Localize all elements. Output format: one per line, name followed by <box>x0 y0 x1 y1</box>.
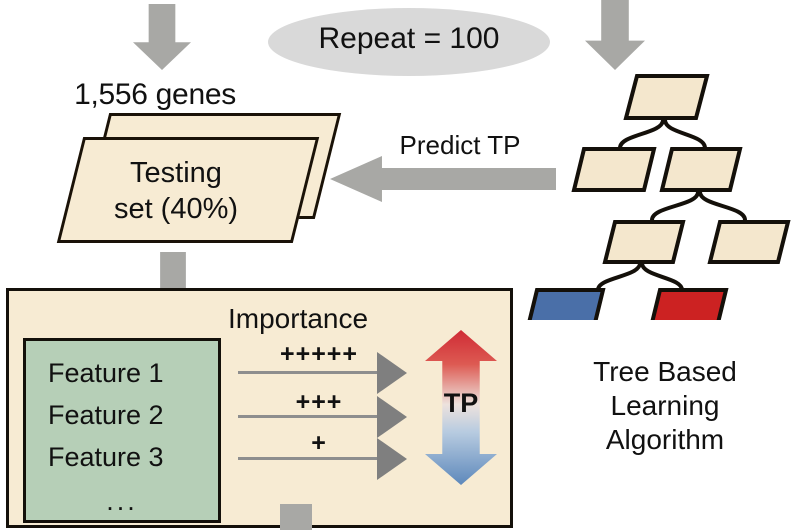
tree-link-mid-right <box>700 192 745 220</box>
importance-arrowhead-3 <box>377 438 407 480</box>
feature-item-1: Feature 1 <box>48 358 208 388</box>
diagram-canvas: Repeat = 100 1,556 genes Testing set (40… <box>0 0 800 530</box>
feature-item-3: Feature 3 <box>48 442 208 472</box>
tree-node-root <box>626 76 707 118</box>
importance-line-3 <box>238 457 378 460</box>
repeat-label: Repeat = 100 <box>268 22 550 56</box>
testing-set-label-line2: set (40%) <box>46 193 306 225</box>
tree-link-leaf-blue <box>598 263 640 290</box>
tree-node-l2-right <box>710 222 788 262</box>
tree-algorithm-label: Tree Based Learning Algorithm <box>540 355 790 457</box>
tree-node-l1-right <box>662 149 740 190</box>
tree-link-root-right <box>665 120 705 148</box>
importance-line-1 <box>238 371 378 374</box>
importance-line-2 <box>238 415 378 418</box>
importance-marks-1: +++++ <box>244 340 394 368</box>
tree-node-l1-left <box>574 149 654 190</box>
importance-header: Importance <box>228 303 408 334</box>
feature-ellipsis: ... <box>23 486 221 516</box>
genes-count-label: 1,556 genes <box>0 78 310 112</box>
importance-marks-3: + <box>244 429 394 457</box>
tree-node-l2-left <box>605 222 683 262</box>
tree-link-root-left <box>620 120 663 148</box>
feature-item-2: Feature 2 <box>48 400 208 430</box>
decision-tree-graphic <box>500 60 800 320</box>
arrow-down-icon-bottom <box>280 504 312 530</box>
tree-leaf-red <box>651 290 726 320</box>
testing-set-card-front <box>57 137 319 243</box>
arrow-down-icon-top-left <box>133 4 191 70</box>
tree-link-mid-left <box>652 192 698 220</box>
tree-link-leaf-red <box>642 263 682 290</box>
tree-leaf-blue <box>528 290 603 320</box>
testing-set-label-line1: Testing <box>46 157 306 189</box>
importance-marks-2: +++ <box>244 388 394 416</box>
tp-label: TP <box>425 388 497 418</box>
